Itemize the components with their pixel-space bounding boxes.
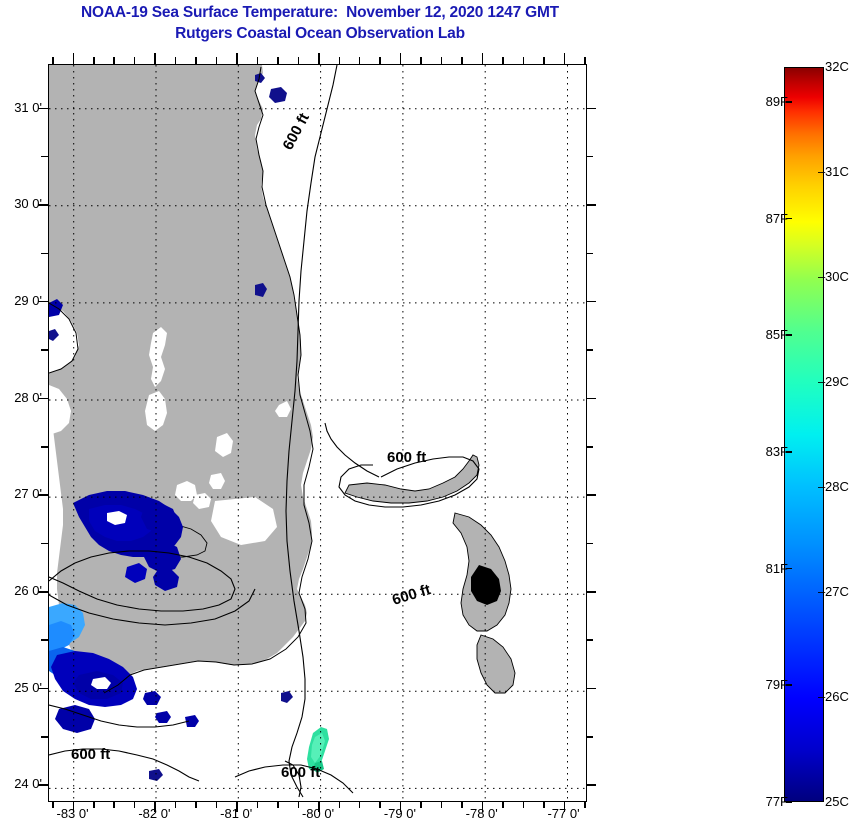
- x-axis-tick-mark-top: [482, 53, 484, 64]
- colorbar-fahrenheit-tick-label: 81F: [748, 561, 788, 576]
- colorbar-celsius-tick: –29C: [818, 374, 864, 389]
- x-axis-tick-mark-top: [400, 53, 402, 64]
- y-axis-tick-mark-right: [586, 204, 596, 206]
- x-axis-tick-mark: [277, 801, 279, 808]
- y-axis-tick-mark-right: [586, 301, 596, 303]
- x-axis-tick-mark: [461, 801, 463, 808]
- y-axis-tick-mark-right: [586, 446, 593, 448]
- contour-label-600ft-3: 600 ft: [390, 581, 432, 609]
- tick-dash-icon: –: [818, 584, 825, 599]
- y-axis-tick-label: 27 0': [0, 486, 42, 501]
- x-axis-tick-mark: [154, 801, 156, 812]
- x-axis-tick-mark: [113, 801, 115, 808]
- y-axis-tick-mark: [38, 204, 48, 206]
- y-axis-tick-label: 29 0': [0, 293, 42, 308]
- colorbar-fahrenheit-tick-mark: [786, 451, 792, 453]
- x-axis-tick-mark: [400, 801, 402, 812]
- x-axis-tick-mark: [318, 801, 320, 812]
- x-axis-tick-mark: [543, 801, 545, 808]
- colorbar-celsius-tick: –27C: [818, 584, 864, 599]
- y-axis-tick-mark: [41, 639, 48, 641]
- x-axis-tick-mark-top: [298, 57, 300, 64]
- tick-dash-icon: –: [818, 374, 825, 389]
- x-axis-tick-mark-top: [134, 57, 136, 64]
- land-florida: [49, 65, 313, 693]
- colorbar-fahrenheit-tick-label: 85F: [748, 327, 788, 342]
- x-axis-tick-mark-top: [277, 57, 279, 64]
- colorbar-fahrenheit-tick-mark: [786, 101, 792, 103]
- colorbar-celsius-tick-label: 30C: [825, 269, 849, 284]
- y-axis-tick-mark: [41, 156, 48, 158]
- colorbar-celsius-tick: –31C: [818, 164, 864, 179]
- y-axis-tick-mark-right: [586, 543, 593, 545]
- colorbar-fahrenheit-tick-label: 79F: [748, 677, 788, 692]
- x-axis-tick-mark-top: [216, 57, 218, 64]
- x-axis-tick-mark: [584, 801, 586, 808]
- y-axis-tick-label: 28 0': [0, 390, 42, 405]
- y-axis-tick-mark-right: [586, 253, 593, 255]
- x-axis-tick-mark-top: [175, 57, 177, 64]
- y-axis-tick-label: 26 0': [0, 583, 42, 598]
- y-axis-tick-mark-right: [586, 108, 596, 110]
- colorbar-celsius-tick-label: 25C: [825, 794, 849, 809]
- colorbar-celsius-tick: –26C: [818, 689, 864, 704]
- y-axis-tick-mark: [41, 736, 48, 738]
- y-axis-tick-label: 30 0': [0, 196, 42, 211]
- colorbar-fahrenheit-tick-label: 77F: [748, 794, 788, 809]
- y-axis-tick-mark: [41, 446, 48, 448]
- y-axis-tick-mark-right: [586, 639, 593, 641]
- y-axis-tick-mark-right: [586, 736, 593, 738]
- colorbar-celsius-tick-label: 28C: [825, 479, 849, 494]
- y-axis-label-group: 31 0'30 0'29 0'28 0'27 0'26 0'25 0'24 0': [0, 64, 42, 802]
- colorbar-fahrenheit-tick-mark: [786, 684, 792, 686]
- contour-label-600ft-5: 600 ft: [281, 764, 320, 781]
- x-axis-tick-mark-top: [420, 57, 422, 64]
- colorbar-celsius-tick: 25C: [818, 794, 864, 809]
- x-axis-tick-mark-top: [113, 57, 115, 64]
- tick-dash-icon: –: [818, 479, 825, 494]
- tick-dash-icon: –: [818, 269, 825, 284]
- y-axis-tick-label: 25 0': [0, 680, 42, 695]
- colorbar-celsius-tick-label: 27C: [825, 584, 849, 599]
- y-axis-tick-mark: [38, 301, 48, 303]
- y-axis-tick-mark: [38, 398, 48, 400]
- y-axis-tick-label: 31 0': [0, 100, 42, 115]
- contour-label-600ft-2: 600 ft: [387, 449, 426, 466]
- x-axis-tick-mark: [195, 801, 197, 808]
- tick-dash-icon: –: [818, 689, 825, 704]
- x-axis-tick-mark: [236, 801, 238, 812]
- x-axis-tick-mark-top: [318, 53, 320, 64]
- x-axis-tick-mark-top: [441, 57, 443, 64]
- page-title: NOAA-19 Sea Surface Temperature: Novembe…: [0, 2, 640, 44]
- x-axis-tick-mark: [379, 801, 381, 808]
- title-line-1: NOAA-19 Sea Surface Temperature: Novembe…: [0, 2, 640, 23]
- colorbar-fahrenheit-tick-mark: [786, 334, 792, 336]
- contour-label-600ft-1: 600 ft: [280, 110, 313, 153]
- tick-dash-icon: [818, 794, 825, 809]
- colorbar-fahrenheit-tick-mark: [786, 801, 792, 803]
- sst-map-page: NOAA-19 Sea Surface Temperature: Novembe…: [0, 0, 865, 832]
- x-axis-tick-mark-top: [52, 57, 54, 64]
- tick-dash-icon: –: [818, 164, 825, 179]
- x-axis-tick-mark: [564, 801, 566, 812]
- x-axis-tick-mark: [339, 801, 341, 808]
- colorbar-fahrenheit-tick-mark: [786, 218, 792, 220]
- y-axis-tick-mark: [38, 784, 48, 786]
- x-axis-tick-mark-top: [543, 57, 545, 64]
- y-axis-tick-label: 24 0': [0, 776, 42, 791]
- x-axis-tick-mark: [359, 801, 361, 808]
- x-axis-tick-mark-top: [339, 57, 341, 64]
- x-axis-tick-mark-top: [379, 57, 381, 64]
- y-axis-tick-mark-right: [586, 349, 593, 351]
- x-axis-tick-mark: [482, 801, 484, 812]
- title-line-2: Rutgers Coastal Ocean Observation Lab: [0, 23, 640, 44]
- x-axis-tick-mark-top: [461, 57, 463, 64]
- x-axis-tick-mark-top: [359, 57, 361, 64]
- x-axis-tick-mark: [52, 801, 54, 808]
- x-axis-tick-mark: [134, 801, 136, 808]
- x-axis-tick-mark: [502, 801, 504, 808]
- y-axis-tick-mark: [41, 253, 48, 255]
- x-axis-tick-mark-top: [154, 53, 156, 64]
- x-axis-tick-mark: [420, 801, 422, 808]
- y-axis-tick-mark: [41, 543, 48, 545]
- colorbar-fahrenheit-tick-label: 83F: [748, 444, 788, 459]
- colorbar-celsius-tick: –30C: [818, 269, 864, 284]
- contour-label-600ft-4: 600 ft: [71, 746, 110, 763]
- x-axis-tick-mark-top: [236, 53, 238, 64]
- colorbar-celsius-tick-label: 29C: [825, 374, 849, 389]
- y-axis-tick-mark-right: [586, 156, 593, 158]
- colorbar-group[interactable]: 32C–31C–30C–29C–28C–27C–26C 25C 89F87F85…: [748, 55, 865, 815]
- colorbar-celsius-tick-label: 32C: [825, 59, 849, 74]
- colorbar-fahrenheit-tick-mark: [786, 568, 792, 570]
- y-axis-tick-mark-right: [586, 494, 596, 496]
- colorbar-fahrenheit-tick-label: 87F: [748, 211, 788, 226]
- x-axis-tick-mark-top: [93, 57, 95, 64]
- x-axis-tick-mark: [298, 801, 300, 808]
- y-axis-tick-mark-right: [586, 688, 596, 690]
- colorbar-celsius-tick: –28C: [818, 479, 864, 494]
- x-axis-tick-mark-top: [523, 57, 525, 64]
- x-axis-tick-mark: [73, 801, 75, 812]
- y-axis-tick-mark-right: [586, 784, 596, 786]
- y-axis-tick-mark-right: [586, 591, 596, 593]
- x-axis-tick-mark: [216, 801, 218, 808]
- map-plot-area[interactable]: 600 ft 600 ft 600 ft 600 ft 600 ft: [48, 64, 587, 802]
- x-axis-tick-mark-top: [564, 53, 566, 64]
- colorbar-celsius-tick: 32C: [818, 59, 864, 74]
- y-axis-tick-mark: [38, 591, 48, 593]
- x-axis-tick-mark: [175, 801, 177, 808]
- x-axis-tick-mark-top: [584, 57, 586, 64]
- x-axis-tick-mark-top: [502, 57, 504, 64]
- y-axis-tick-mark: [38, 494, 48, 496]
- y-axis-tick-mark: [38, 108, 48, 110]
- y-axis-tick-mark: [41, 349, 48, 351]
- tick-dash-icon: [818, 59, 825, 74]
- colorbar-fahrenheit-tick-label: 89F: [748, 94, 788, 109]
- x-axis-tick-mark: [441, 801, 443, 808]
- x-axis-tick-mark: [257, 801, 259, 808]
- x-axis-tick-mark-top: [195, 57, 197, 64]
- x-axis-tick-mark-top: [257, 57, 259, 64]
- x-axis-tick-mark: [93, 801, 95, 808]
- colorbar-celsius-tick-label: 31C: [825, 164, 849, 179]
- y-axis-tick-mark: [38, 688, 48, 690]
- x-axis-tick-mark: [523, 801, 525, 808]
- colorbar-celsius-tick-label: 26C: [825, 689, 849, 704]
- y-axis-tick-mark-right: [586, 398, 596, 400]
- map-canvas: 600 ft 600 ft 600 ft 600 ft 600 ft: [49, 65, 585, 800]
- x-axis-tick-mark-top: [73, 53, 75, 64]
